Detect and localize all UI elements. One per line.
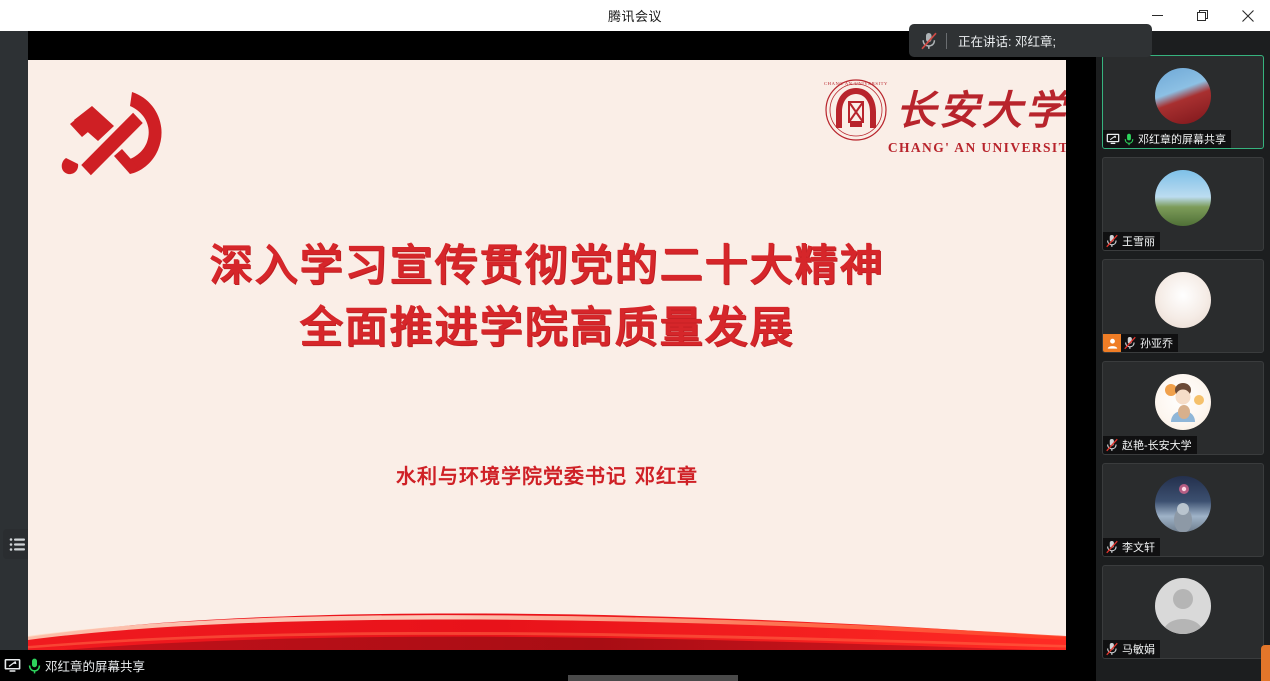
avatar bbox=[1155, 578, 1211, 634]
participant-name: 李文轩 bbox=[1122, 539, 1155, 555]
participant-name: 孙亚乔 bbox=[1140, 335, 1173, 351]
participant-namebar: 马敏娟 bbox=[1103, 640, 1160, 658]
toast-text: 正在讲话: 邓红章; bbox=[958, 31, 1056, 50]
mic-muted-icon bbox=[1106, 540, 1118, 554]
close-icon bbox=[1242, 10, 1254, 22]
slide-title-line2: 全面推进学院高质量发展 bbox=[28, 297, 1066, 359]
share-status-bar: 邓红章的屏幕共享 bbox=[0, 650, 1096, 681]
svg-text:CHANG AN UNIVERSITY: CHANG AN UNIVERSITY bbox=[824, 81, 888, 86]
screen-share-icon bbox=[1106, 133, 1120, 145]
participant-panel[interactable]: 邓红章的屏幕共享 王雪丽 bbox=[1096, 31, 1270, 681]
mic-muted-icon bbox=[921, 32, 937, 50]
mic-muted-icon bbox=[1106, 234, 1118, 248]
window-controls bbox=[1135, 0, 1270, 31]
participant-tile[interactable]: 邓红章的屏幕共享 bbox=[1102, 55, 1264, 149]
shared-screen-stage: CHANG AN UNIVERSITY 长安大学 CHANG' AN UNIVE… bbox=[0, 31, 1096, 681]
participant-namebar: 王雪丽 bbox=[1103, 232, 1160, 250]
avatar bbox=[1155, 476, 1211, 532]
slide-title-line1: 深入学习宣传贯彻党的二十大精神 bbox=[210, 241, 885, 291]
participant-tile[interactable]: 马敏娟 bbox=[1102, 565, 1264, 659]
participant-namebar: 李文轩 bbox=[1103, 538, 1160, 556]
panel-edge-indicator[interactable] bbox=[1261, 645, 1270, 681]
participant-tile[interactable]: 赵艳-长安大学 bbox=[1102, 361, 1264, 455]
tencent-meeting-window: 腾讯会议 bbox=[0, 0, 1270, 681]
presentation-slide: CHANG AN UNIVERSITY 长安大学 CHANG' AN UNIVE… bbox=[28, 60, 1066, 681]
maximize-icon bbox=[1197, 10, 1209, 22]
avatar bbox=[1155, 374, 1211, 430]
close-button[interactable] bbox=[1225, 0, 1270, 31]
host-person-icon bbox=[1107, 338, 1118, 349]
participant-tile[interactable]: 王雪丽 bbox=[1102, 157, 1264, 251]
slide-title: 深入学习宣传贯彻党的二十大精神 全面推进学院高质量发展 bbox=[28, 235, 1066, 360]
participant-name: 王雪丽 bbox=[1122, 233, 1155, 249]
slide-byline: 水利与环境学院党委书记 邓红章 bbox=[28, 460, 1066, 489]
participant-tile[interactable]: 孙亚乔 bbox=[1102, 259, 1264, 353]
toast-divider bbox=[946, 33, 947, 49]
mic-muted-icon bbox=[1106, 642, 1118, 656]
default-person-icon bbox=[1155, 578, 1211, 634]
participant-tile[interactable]: 李文轩 bbox=[1102, 463, 1264, 557]
screen-share-icon bbox=[4, 658, 21, 673]
participant-namebar: 赵艳-长安大学 bbox=[1103, 436, 1197, 454]
avatar-illustration bbox=[1155, 374, 1211, 430]
maximize-button[interactable] bbox=[1180, 0, 1225, 31]
speaking-toast: 正在讲话: 邓红章; bbox=[909, 24, 1152, 57]
share-status-text: 邓红章的屏幕共享 bbox=[45, 656, 145, 675]
participant-name: 马敏娟 bbox=[1122, 641, 1155, 657]
list-panel-icon bbox=[9, 537, 26, 552]
cpc-emblem-icon bbox=[52, 86, 182, 186]
left-rail bbox=[0, 31, 28, 681]
avatar bbox=[1155, 170, 1211, 226]
mic-muted-icon bbox=[1124, 336, 1136, 350]
svg-text:长安大学: 长安大学 bbox=[896, 88, 1066, 134]
avatar bbox=[1155, 68, 1211, 124]
mic-on-icon bbox=[1124, 133, 1134, 146]
participant-name: 邓红章的屏幕共享 bbox=[1138, 131, 1226, 147]
university-name-en: CHANG' AN UNIVERSITY bbox=[888, 140, 1066, 155]
minimize-icon bbox=[1152, 10, 1163, 21]
host-badge bbox=[1103, 334, 1121, 352]
avatar-illustration bbox=[1155, 476, 1211, 532]
avatar bbox=[1155, 272, 1211, 328]
stage-bottom-handle[interactable] bbox=[568, 675, 738, 681]
participant-name: 赵艳-长安大学 bbox=[1122, 437, 1192, 453]
window-title: 腾讯会议 bbox=[608, 6, 662, 25]
mic-on-icon bbox=[28, 658, 41, 674]
changan-university-logo: CHANG AN UNIVERSITY 长安大学 CHANG' AN UNIVE… bbox=[816, 72, 1066, 160]
mic-muted-icon bbox=[1106, 438, 1118, 452]
participant-namebar: 孙亚乔 bbox=[1103, 334, 1178, 352]
participant-namebar: 邓红章的屏幕共享 bbox=[1103, 130, 1231, 148]
